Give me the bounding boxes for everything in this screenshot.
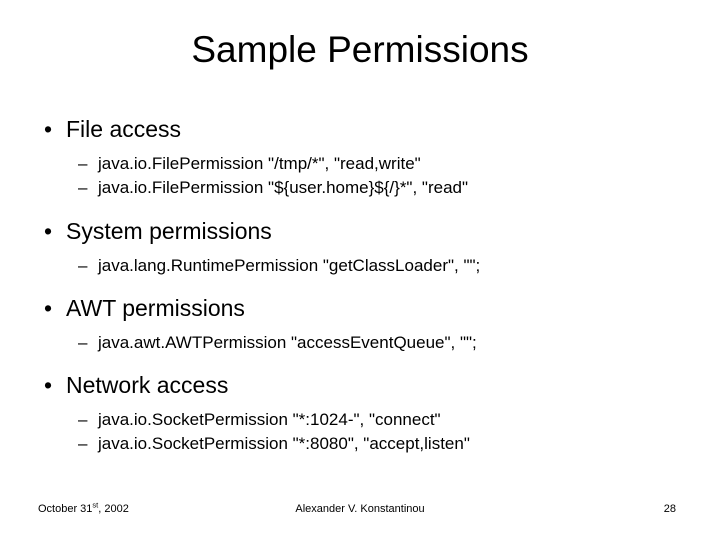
bullet-dot-icon: •: [44, 291, 52, 325]
list-item-label: java.awt.AWTPermission "accessEventQueue…: [98, 333, 477, 352]
list-item: – java.io.FilePermission "${user.home}${…: [0, 176, 720, 200]
bullet-heading-label: File access: [66, 116, 181, 142]
bullet-heading-network-access: • Network access: [0, 368, 720, 402]
list-item-label: java.io.SocketPermission "*:8080", "acce…: [98, 434, 470, 453]
bullet-dash-icon: –: [78, 408, 87, 432]
list-item: – java.io.FilePermission "/tmp/*", "read…: [0, 152, 720, 176]
list-item-label: java.io.FilePermission "/tmp/*", "read,w…: [98, 154, 421, 173]
spacer: [0, 355, 720, 368]
spacer: [0, 278, 720, 291]
presentation-slide: Sample Permissions • File access – java.…: [0, 0, 720, 540]
list-item-label: java.lang.RuntimePermission "getClassLoa…: [98, 256, 480, 275]
page-title: Sample Permissions: [0, 28, 720, 72]
bullet-heading-system-permissions: • System permissions: [0, 214, 720, 248]
list-item: – java.lang.RuntimePermission "getClassL…: [0, 254, 720, 278]
bullet-heading-awt-permissions: • AWT permissions: [0, 291, 720, 325]
bullet-section-awt-permissions: • AWT permissions – java.awt.AWTPermissi…: [0, 291, 720, 355]
bullet-dot-icon: •: [44, 112, 52, 146]
bullet-dot-icon: •: [44, 368, 52, 402]
bullet-dash-icon: –: [78, 176, 87, 200]
list-item: – java.io.SocketPermission "*:1024-", "c…: [0, 408, 720, 432]
spacer: [0, 200, 720, 214]
slide-footer: October 31st, 2002 Alexander V. Konstant…: [0, 494, 720, 540]
list-item-label: java.io.SocketPermission "*:1024-", "con…: [98, 410, 441, 429]
bullet-dash-icon: –: [78, 152, 87, 176]
footer-page-number: 28: [664, 502, 676, 517]
bullet-section-network-access: • Network access – java.io.SocketPermiss…: [0, 368, 720, 456]
list-item: – java.io.SocketPermission "*:8080", "ac…: [0, 432, 720, 456]
bullet-section-file-access: • File access – java.io.FilePermission "…: [0, 112, 720, 200]
bullet-dot-icon: •: [44, 214, 52, 248]
bullet-heading-label: AWT permissions: [66, 295, 245, 321]
bullet-section-system-permissions: • System permissions – java.lang.Runtime…: [0, 214, 720, 278]
bullet-dash-icon: –: [78, 432, 87, 456]
bullet-heading-label: System permissions: [66, 218, 272, 244]
list-item-label: java.io.FilePermission "${user.home}${/}…: [98, 178, 468, 197]
footer-author: Alexander V. Konstantinou: [0, 502, 720, 517]
bullet-dash-icon: –: [78, 331, 87, 355]
bullet-heading-file-access: • File access: [0, 112, 720, 146]
slide-body: • File access – java.io.FilePermission "…: [0, 112, 720, 456]
list-item: – java.awt.AWTPermission "accessEventQue…: [0, 331, 720, 355]
bullet-heading-label: Network access: [66, 372, 228, 398]
bullet-dash-icon: –: [78, 254, 87, 278]
